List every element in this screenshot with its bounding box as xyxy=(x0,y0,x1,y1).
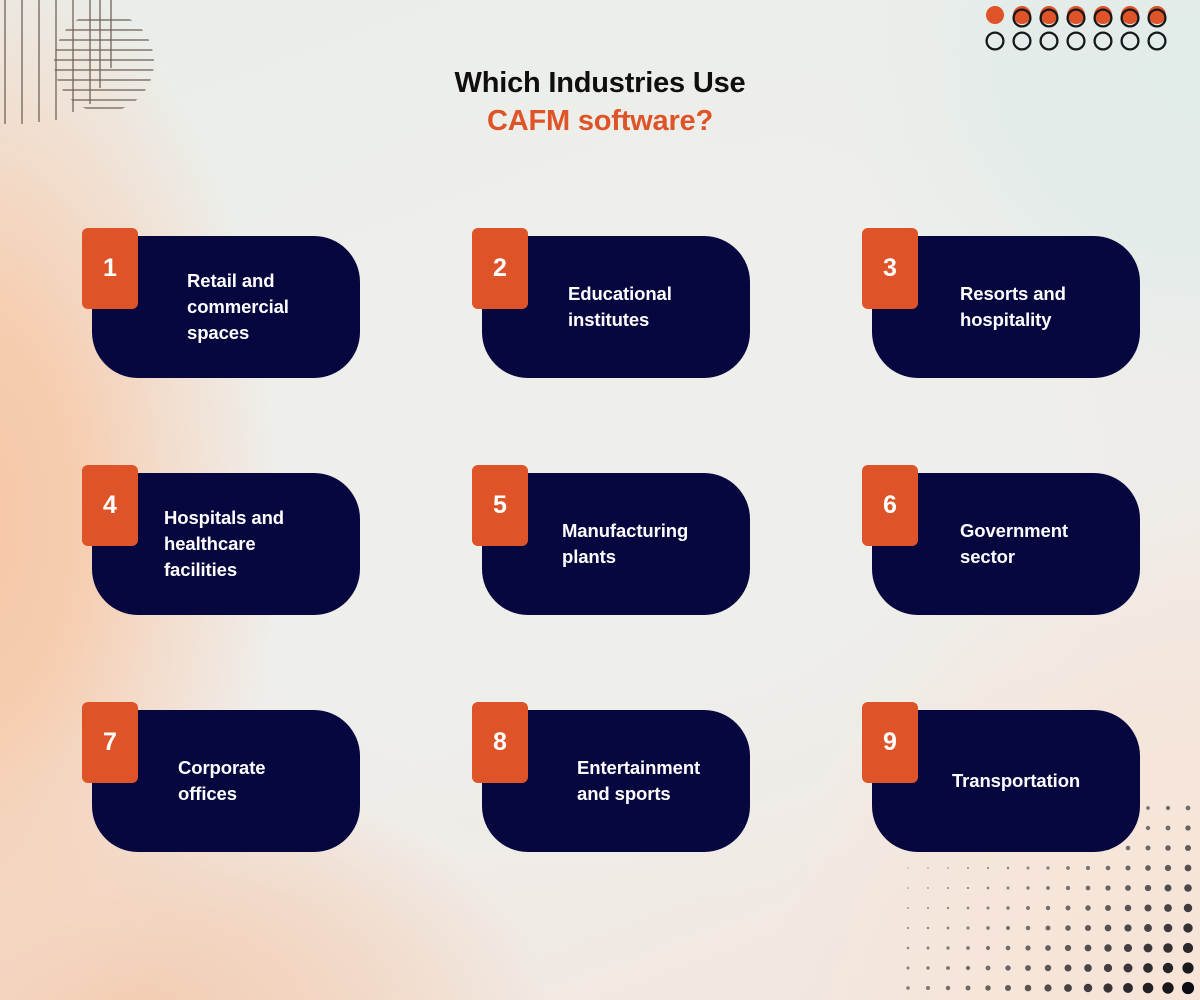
page-title: Which Industries Use CAFM software? xyxy=(0,64,1200,141)
industry-card[interactable]: Manufacturing plants5 xyxy=(482,465,750,615)
card-number: 7 xyxy=(103,730,117,755)
card-number: 1 xyxy=(103,256,117,281)
industry-card[interactable]: Transportation9 xyxy=(872,702,1140,852)
industry-card[interactable]: Entertainment and sports8 xyxy=(482,702,750,852)
industry-card[interactable]: Resorts and hospitality3 xyxy=(872,228,1140,378)
card-number: 6 xyxy=(883,493,897,518)
industry-card[interactable]: Corporate offices7 xyxy=(92,702,360,852)
dot-grid-decoration-icon xyxy=(984,0,1184,58)
card-number: 5 xyxy=(493,493,507,518)
card-number: 9 xyxy=(883,730,897,755)
title-line-1: Which Industries Use xyxy=(0,64,1200,102)
card-number: 2 xyxy=(493,256,507,281)
card-number-badge: 4 xyxy=(82,465,138,546)
card-number-badge: 1 xyxy=(82,228,138,309)
industry-card[interactable]: Hospitals and healthcare facilities4 xyxy=(92,465,360,615)
card-number-badge: 2 xyxy=(472,228,528,309)
card-number: 4 xyxy=(103,493,117,518)
card-number-badge: 9 xyxy=(862,702,918,783)
card-number-badge: 6 xyxy=(862,465,918,546)
title-line-2: CAFM software? xyxy=(0,102,1200,140)
card-number-badge: 7 xyxy=(82,702,138,783)
card-number-badge: 5 xyxy=(472,465,528,546)
industry-card[interactable]: Government sector6 xyxy=(872,465,1140,615)
card-number-badge: 3 xyxy=(862,228,918,309)
industry-card[interactable]: Educational institutes2 xyxy=(482,228,750,378)
card-number-badge: 8 xyxy=(472,702,528,783)
card-number: 8 xyxy=(493,730,507,755)
card-number: 3 xyxy=(883,256,897,281)
industry-card[interactable]: Retail and commercial spaces1 xyxy=(92,228,360,378)
industry-card-grid: Retail and commercial spaces1Educational… xyxy=(92,228,1108,852)
